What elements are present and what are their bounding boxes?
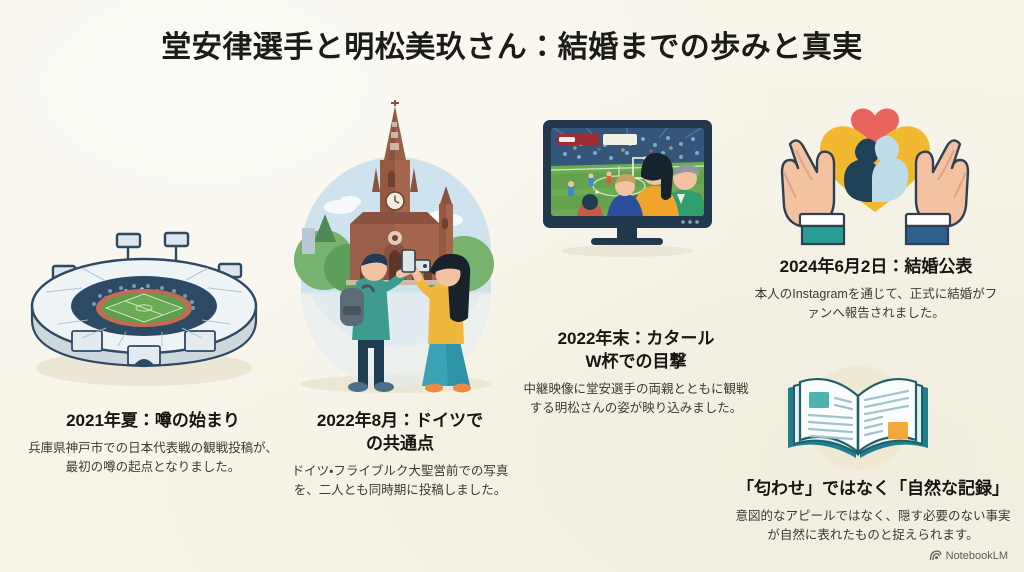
block-cathedral-heading-line1: 2022年8月：ドイツで	[280, 410, 520, 433]
block-cathedral-heading-line2: の共通点	[280, 433, 520, 456]
block-natural-record-heading: 「匂わせ」ではなく「自然な記録」	[730, 478, 1016, 501]
page-title: 堂安律選手と明松美玖さん：結婚までの歩みと真実	[0, 22, 1024, 66]
block-tv-heading: 2022年末：カタール W杯での目撃	[522, 328, 750, 374]
block-tv-body: 中継映像に堂安選手の両親とともに観戦する明松さんの姿が映り込みました。	[522, 380, 750, 419]
block-natural-record-caption: 「匂わせ」ではなく「自然な記録」 意図的なアピールではなく、隠す必要のない事実が…	[730, 478, 1016, 546]
block-tv-caption: 2022年末：カタール W杯での目撃 中継映像に堂安選手の両親とともに観戦する明…	[522, 328, 750, 419]
hands-holding-heart-illustration	[780, 86, 970, 246]
stadium-illustration	[22, 228, 262, 393]
block-stadium-body: 兵庫県神戸市での日本代表戦の観戦投稿が、最初の噂の起点となりました。	[28, 439, 278, 478]
open-book-illustration	[778, 360, 938, 470]
infographic-canvas: 堂安律選手と明松美玖さん：結婚までの歩みと真実	[0, 0, 1024, 572]
block-stadium-caption: 2021年夏：噂の始まり 兵庫県神戸市での日本代表戦の観戦投稿が、最初の噂の起点…	[28, 410, 278, 478]
block-cathedral-body: ドイツ・フライブルク大聖営前での写真を、二人とも同時期に投稿しました。	[280, 462, 520, 501]
cathedral-photographers-illustration	[288, 92, 503, 397]
notebooklm-icon	[929, 549, 942, 562]
notebooklm-watermark: NotebookLM	[929, 549, 1008, 562]
block-announcement-body: 本人のInstagramを通じて、正式に結婚がファンへ報告されました。	[752, 285, 1000, 324]
block-tv-heading-line1: 2022年末：カタール	[522, 328, 750, 351]
block-announcement-heading: 2024年6月2日：結婚公表	[752, 256, 1000, 279]
television-broadcast-illustration	[535, 108, 720, 258]
block-tv-heading-line2: W杯での目撃	[522, 351, 750, 374]
block-natural-record-body: 意図的なアピールではなく、隠す必要のない事実が自然に表れたものと捉えられます。	[730, 507, 1016, 546]
notebooklm-label: NotebookLM	[946, 550, 1008, 562]
block-cathedral-caption: 2022年8月：ドイツで の共通点 ドイツ・フライブルク大聖営前での写真を、二人…	[280, 410, 520, 501]
block-cathedral-heading: 2022年8月：ドイツで の共通点	[280, 410, 520, 456]
block-stadium-heading: 2021年夏：噂の始まり	[28, 410, 278, 433]
block-announcement-caption: 2024年6月2日：結婚公表 本人のInstagramを通じて、正式に結婚がファ…	[752, 256, 1000, 324]
